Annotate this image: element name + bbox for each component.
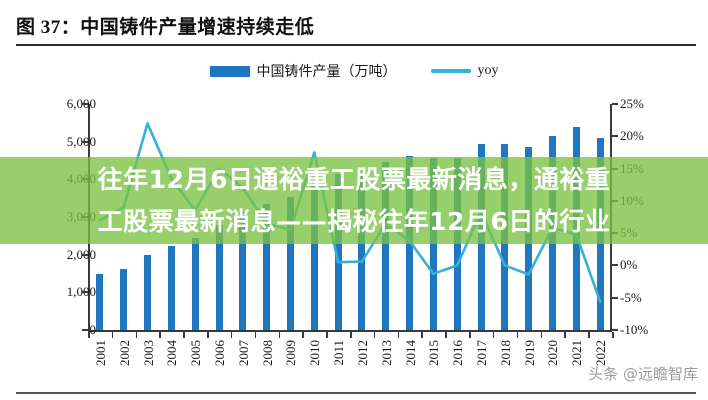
x-axis-tick-label: 2004	[164, 340, 180, 366]
x-axis-tick-label: 2016	[450, 340, 466, 366]
bottom-divider	[16, 392, 696, 394]
x-axis-tick-label: 2018	[498, 340, 514, 366]
legend-label-yoy: yoy	[478, 63, 499, 79]
x-axis-tick-label: 2021	[569, 340, 585, 366]
promo-overlay-text: 往年12月6日通裕重工股票最新消息，通裕重 工股票最新消息——揭秘往年12月6日…	[0, 157, 708, 244]
x-axis-tick-label: 2001	[93, 340, 109, 366]
x-axis-tick-label: 2020	[545, 340, 561, 366]
legend-item-production: 中国铸件产量（万吨）	[210, 61, 397, 81]
x-axis-tick-label: 2013	[379, 340, 395, 366]
x-axis-tick-label: 2012	[355, 340, 371, 366]
x-axis-tick-label: 2010	[307, 340, 323, 366]
legend-line-swatch-icon	[431, 69, 471, 73]
x-axis-tick-label: 2019	[522, 340, 538, 366]
figure-header: 图 37：中国铸件产量增速持续走低	[0, 0, 708, 48]
x-axis-tick-label: 2006	[212, 340, 228, 366]
x-axis-tick-label: 2014	[403, 340, 419, 366]
legend-label-production: 中国铸件产量（万吨）	[257, 61, 397, 81]
x-axis-tick-label: 2009	[283, 340, 299, 366]
title-divider	[16, 44, 696, 46]
promo-overlay-line-1: 往年12月6日通裕重工股票最新消息，通裕重	[98, 159, 611, 201]
x-axis-tick-label: 2003	[141, 340, 157, 366]
x-axis-tick-label: 2017	[474, 340, 490, 366]
x-axis-tick-label: 2007	[236, 340, 252, 366]
legend-bar-swatch-icon	[210, 66, 250, 77]
x-axis-tick-label: 2005	[188, 340, 204, 366]
chart-legend: 中国铸件产量（万吨） yoy	[0, 58, 708, 84]
x-axis-tick-label: 2008	[260, 340, 276, 366]
x-axis-tick-label: 2015	[426, 340, 442, 366]
x-axis-tick-label: 2002	[117, 340, 133, 366]
watermark-text: 头条 @远瞻智库	[588, 363, 698, 384]
x-axis-tick-label: 2011	[331, 340, 347, 366]
legend-item-yoy: yoy	[431, 63, 499, 79]
page-title: 图 37：中国铸件产量增速持续走低	[16, 12, 314, 39]
promo-overlay-line-2: 工股票最新消息——揭秘往年12月6日的行业	[98, 201, 611, 243]
